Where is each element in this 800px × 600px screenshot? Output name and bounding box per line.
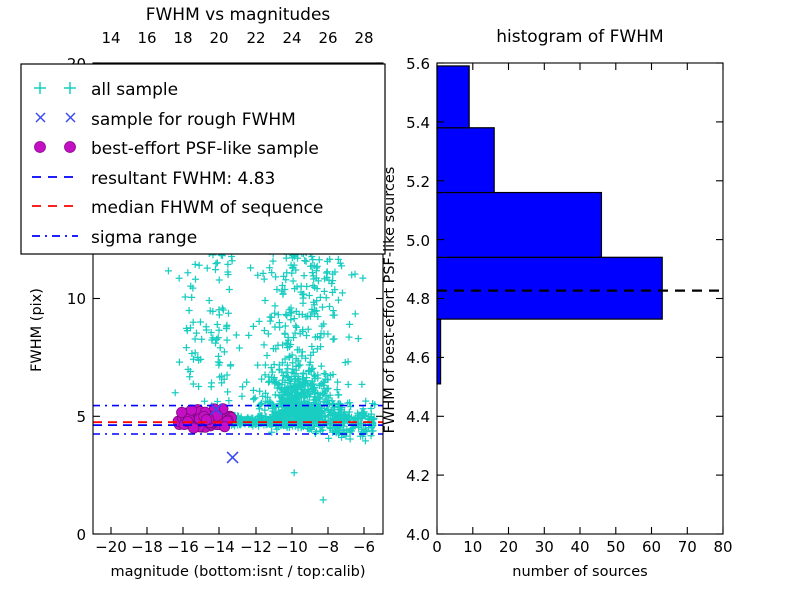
figure-canvas: FWHM vs magnitudes 14 16 18 20 22 24 26 … xyxy=(0,0,800,600)
top-tick-label: 18 xyxy=(173,29,192,47)
figure-svg: FWHM vs magnitudes 14 16 18 20 22 24 26 … xyxy=(0,0,800,600)
y-tick-label: 10 xyxy=(67,290,86,308)
legend: all sample sample for rough FWHM best-ef… xyxy=(21,64,385,254)
y-tick-label: 4.8 xyxy=(406,290,430,308)
y-tick-label: 5.2 xyxy=(406,173,430,191)
bottom-tick-label: −6 xyxy=(353,538,375,556)
y-tick-label: 5 xyxy=(76,408,86,426)
right-panel-title: histogram of FWHM xyxy=(496,27,663,47)
bottom-tick-label: −20 xyxy=(95,538,127,556)
x-tick-label: 0 xyxy=(432,538,442,556)
histogram-bar xyxy=(437,66,469,128)
top-tick-label: 16 xyxy=(137,29,156,47)
legend-item-label: sample for rough FWHM xyxy=(91,110,296,130)
y-tick-label: 5.4 xyxy=(406,114,430,132)
histogram-bar xyxy=(437,128,494,193)
top-tick-label: 22 xyxy=(246,29,265,47)
legend-background xyxy=(21,64,385,254)
y-tick-label: 5.6 xyxy=(406,55,430,73)
bottom-tick-label: −16 xyxy=(167,538,199,556)
legend-item-label: median FHWM of sequence xyxy=(91,198,323,218)
legend-item-label: all sample xyxy=(91,80,178,100)
y-tick-label: 4.6 xyxy=(406,349,430,367)
bottom-tick-label: −18 xyxy=(131,538,163,556)
y-tick-label: 5.0 xyxy=(406,232,430,250)
top-tick-label: 24 xyxy=(282,29,301,47)
top-tick-label: 20 xyxy=(209,29,228,47)
x-tick-label: 30 xyxy=(535,538,554,556)
right-panel-y-ticklabels: 4.0 4.2 4.4 4.6 4.8 5.0 5.2 5.4 5.6 xyxy=(406,55,430,544)
x-tick-label: 60 xyxy=(642,538,661,556)
right-panel-ylabel: FWHM of best-effort PSF-like sources xyxy=(382,167,398,434)
left-panel-xlabel: magnitude (bottom:isnt / top:calib) xyxy=(110,564,365,580)
y-tick-label: 4.4 xyxy=(406,408,430,426)
x-tick-label: 10 xyxy=(463,538,482,556)
bottom-tick-label: −10 xyxy=(276,538,308,556)
top-tick-label: 28 xyxy=(354,29,373,47)
bottom-tick-label: −14 xyxy=(203,538,235,556)
right-panel-xlabel: number of sources xyxy=(512,564,648,580)
legend-item-label: resultant FWHM: 4.83 xyxy=(91,169,275,189)
top-tick-label: 14 xyxy=(101,29,120,47)
bottom-tick-label: −8 xyxy=(317,538,339,556)
y-tick-label: 4.0 xyxy=(406,526,430,544)
left-panel-title: FWHM vs magnitudes xyxy=(146,5,331,25)
legend-item-label: best-effort PSF-like sample xyxy=(91,139,319,159)
top-tick-label: 26 xyxy=(318,29,337,47)
scatter-psf-sample xyxy=(173,404,237,434)
histogram-bar xyxy=(437,257,662,319)
y-tick-label: 4.2 xyxy=(406,467,430,485)
histogram-bar xyxy=(437,193,601,258)
x-tick-label: 20 xyxy=(499,538,518,556)
bottom-tick-label: −12 xyxy=(240,538,272,556)
right-panel-x-ticklabels: 0 10 20 30 40 50 60 70 80 xyxy=(432,538,732,556)
x-tick-label: 40 xyxy=(570,538,589,556)
x-tick-label: 80 xyxy=(713,538,732,556)
left-panel-ylabel: FWHM (pix) xyxy=(29,288,45,372)
x-tick-label: 70 xyxy=(678,538,697,556)
legend-item-label: sigma range xyxy=(91,228,197,248)
y-tick-label: 0 xyxy=(76,526,86,544)
x-tick-label: 50 xyxy=(606,538,625,556)
